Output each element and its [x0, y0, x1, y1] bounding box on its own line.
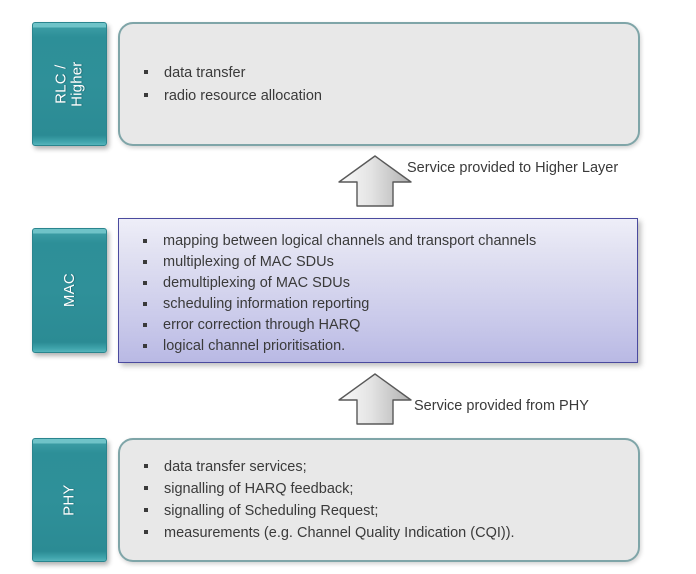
layer-panel-rlc: data transfer radio resource allocation: [118, 22, 640, 146]
list-item: measurements (e.g. Channel Quality Indic…: [138, 522, 626, 544]
list-item: signalling of Scheduling Request;: [138, 500, 626, 522]
layer-tab-rlc-inner: RLC / Higher: [33, 23, 106, 145]
layer-panel-phy: data transfer services; signalling of HA…: [118, 438, 640, 562]
layer-panel-mac: mapping between logical channels and tra…: [118, 218, 638, 363]
list-item: logical channel prioritisation.: [137, 336, 625, 357]
arrow-label-from-phy: Service provided from PHY: [414, 398, 589, 414]
layer-tab-mac-label: MAC: [61, 274, 77, 308]
arrow-up-to-higher-layer-icon: [337, 154, 413, 208]
arrow-up-from-phy-icon: [337, 372, 413, 426]
list-item: radio resource allocation: [138, 85, 626, 108]
arrow-label-to-higher-layer: Service provided to Higher Layer: [407, 160, 618, 176]
layer-tab-mac-inner: MAC: [33, 229, 106, 352]
list-item: signalling of HARQ feedback;: [138, 478, 626, 500]
phy-function-list: data transfer services; signalling of HA…: [138, 456, 626, 544]
layer-tab-rlc[interactable]: RLC / Higher: [32, 22, 107, 146]
layer-tab-phy-label: PHY: [61, 484, 77, 515]
layer-tab-phy-inner: PHY: [33, 439, 106, 561]
rlc-function-list: data transfer radio resource allocation: [138, 62, 626, 108]
mac-function-list: mapping between logical channels and tra…: [137, 231, 625, 357]
list-item: scheduling information reporting: [137, 294, 625, 315]
list-item: error correction through HARQ: [137, 315, 625, 336]
list-item: multiplexing of MAC SDUs: [137, 252, 625, 273]
list-item: data transfer: [138, 62, 626, 85]
protocol-stack-diagram: RLC / Higher data transfer radio resourc…: [0, 0, 696, 574]
list-item: demultiplexing of MAC SDUs: [137, 273, 625, 294]
list-item: data transfer services;: [138, 456, 626, 478]
layer-tab-rlc-label: RLC / Higher: [53, 61, 85, 106]
layer-tab-phy[interactable]: PHY: [32, 438, 107, 562]
list-item: mapping between logical channels and tra…: [137, 231, 625, 252]
layer-tab-mac[interactable]: MAC: [32, 228, 107, 353]
